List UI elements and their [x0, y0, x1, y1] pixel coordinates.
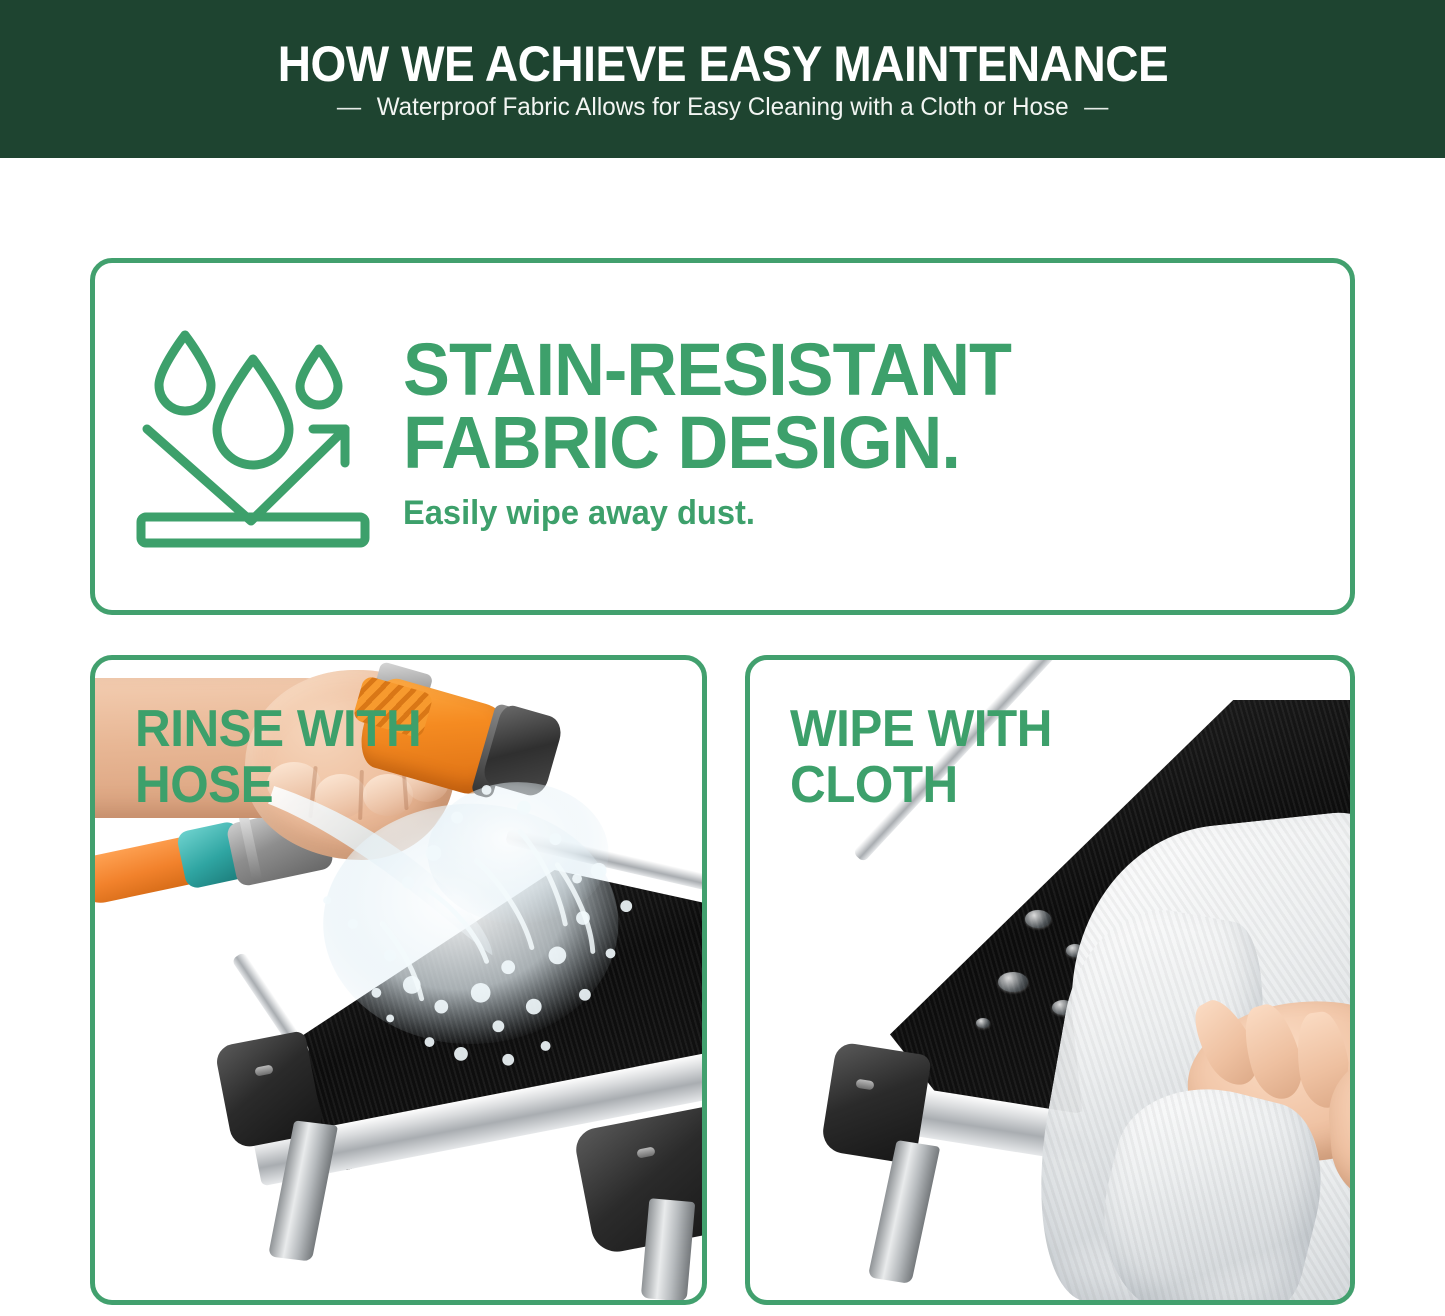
water-bead	[976, 1018, 990, 1028]
page-header: HOW WE ACHIEVE EASY MAINTENANCE — Waterp…	[0, 0, 1445, 158]
rinse-with-hose-card: RINSE WITH HOSE	[90, 655, 707, 1305]
cot-leg	[868, 1140, 941, 1284]
subtitle-dash-right: —	[1084, 95, 1108, 120]
page-title: HOW WE ACHIEVE EASY MAINTENANCE	[277, 39, 1167, 89]
subtitle-dash-left: —	[337, 95, 361, 120]
cloth-wiping-pet-cot-photo	[750, 660, 1350, 1300]
stain-resistant-card: STAIN-RESISTANT FABRIC DESIGN. Easily wi…	[90, 258, 1355, 615]
water-bead	[1025, 910, 1051, 928]
wipe-with-cloth-card: WIPE WITH CLOTH	[745, 655, 1355, 1305]
subtitle-text: Waterproof Fabric Allows for Easy Cleani…	[377, 95, 1069, 120]
page-subtitle: — Waterproof Fabric Allows for Easy Clea…	[337, 95, 1108, 120]
water-repellent-fabric-icon	[123, 317, 383, 557]
stain-heading-line2: FABRIC DESIGN.	[403, 407, 1303, 480]
water-bead	[998, 972, 1028, 992]
stain-subheading: Easily wipe away dust.	[403, 495, 1312, 532]
hose-rinsing-pet-cot-photo	[95, 660, 702, 1300]
water-spray	[95, 660, 702, 1300]
stain-heading-line1: STAIN-RESISTANT	[403, 334, 1303, 407]
